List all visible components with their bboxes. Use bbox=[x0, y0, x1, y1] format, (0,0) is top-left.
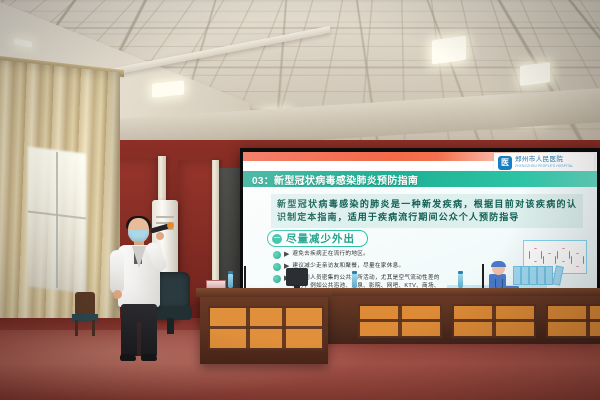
conference-desk-top bbox=[322, 288, 600, 296]
ceiling-light-2 bbox=[520, 62, 550, 86]
bullet-dot-icon bbox=[273, 275, 281, 283]
ceiling-light-1 bbox=[432, 36, 466, 65]
presenter-shoe bbox=[120, 354, 136, 361]
molecule-hex-row bbox=[529, 248, 584, 267]
list-item: ▶ 避免去疾病正在流行的地区。 bbox=[273, 250, 441, 259]
hospital-logo: 医 郑州市人民医院 ZHENGZHOU PEOPLE'S HOSPITAL bbox=[494, 153, 594, 172]
presenter bbox=[112, 218, 168, 364]
office-chair-base bbox=[167, 318, 174, 334]
slide-section-heading: 一 尽量减少外出 bbox=[267, 230, 368, 247]
microphone-head-icon bbox=[167, 222, 174, 229]
side-chair-leg bbox=[92, 320, 95, 336]
folder-icon bbox=[537, 266, 545, 285]
bullet-dot-icon bbox=[273, 263, 281, 271]
water-bottle bbox=[458, 274, 463, 288]
hexagon-icon bbox=[557, 248, 570, 262]
side-chair-back bbox=[75, 292, 95, 316]
conference-desk-panel bbox=[358, 304, 442, 338]
bottle-cap bbox=[228, 271, 233, 274]
slide-title: 03：新型冠状病毒感染肺炎预防指南 bbox=[243, 172, 418, 187]
presenter-shoe bbox=[141, 354, 157, 361]
speaker-podium-top bbox=[196, 288, 332, 297]
presentation-photo: 医 郑州市人民医院 ZHENGZHOU PEOPLE'S HOSPITAL 03… bbox=[0, 0, 600, 400]
water-bottle bbox=[228, 274, 233, 288]
bullet-text: 避免去疾病正在流行的地区。 bbox=[292, 250, 369, 258]
hospital-name-cn: 郑州市人民医院 bbox=[515, 157, 573, 164]
bullet-text: 建议减少走亲访友和聚餐，尽量在家休息。 bbox=[292, 262, 404, 270]
section-label: 尽量减少外出 bbox=[286, 231, 355, 246]
slide-body-block: 新型冠状病毒感染的肺炎是一种新发疾病，根据目前对该疾病的认识制定本指南，适用于疾… bbox=[271, 194, 583, 228]
desk-microphone-stand bbox=[244, 266, 246, 288]
presenter-left-hand bbox=[113, 290, 122, 299]
doctor-cap-icon bbox=[491, 261, 506, 267]
bullet-arrow-icon: ▶ bbox=[284, 250, 289, 259]
presenter-left-arm bbox=[110, 250, 124, 294]
presenter-right-hand bbox=[156, 232, 164, 240]
conference-desk-panel bbox=[546, 304, 600, 338]
desk-microphone-stand bbox=[482, 264, 484, 288]
slide-body-text: 新型冠状病毒感染的肺炎是一种新发疾病，根据目前对该疾病的认识制定本指南，适用于疾… bbox=[277, 198, 577, 224]
section-number-badge: 一 bbox=[272, 234, 282, 244]
bullet-dot-icon bbox=[273, 251, 281, 259]
side-chair-leg bbox=[75, 320, 78, 336]
conference-desk-panel bbox=[452, 304, 536, 338]
hexagon-icon bbox=[529, 248, 542, 262]
folder-icon bbox=[521, 266, 529, 285]
side-chair bbox=[72, 292, 98, 336]
hexagon-icon bbox=[571, 253, 584, 267]
hospital-logo-text: 郑州市人民医院 ZHENGZHOU PEOPLE'S HOSPITAL bbox=[515, 157, 573, 168]
water-bottle bbox=[352, 274, 357, 288]
slide-title-bar: 03：新型冠状病毒感染肺炎预防指南 bbox=[243, 171, 597, 187]
presenter-leg-gap bbox=[137, 322, 141, 356]
presenter-coat-lapel bbox=[132, 246, 146, 268]
bottle-cap bbox=[458, 271, 463, 274]
speaker-podium-panel bbox=[208, 306, 324, 350]
desk-monitor bbox=[286, 268, 308, 286]
folder-icon bbox=[513, 266, 521, 285]
hospital-logo-icon: 医 bbox=[498, 156, 512, 170]
hospital-name-en: ZHENGZHOU PEOPLE'S HOSPITAL bbox=[515, 165, 573, 168]
folder-icon bbox=[529, 266, 537, 285]
hexagon-icon bbox=[543, 253, 556, 267]
window-mullion-v bbox=[56, 152, 58, 288]
bottle-cap bbox=[352, 271, 357, 274]
